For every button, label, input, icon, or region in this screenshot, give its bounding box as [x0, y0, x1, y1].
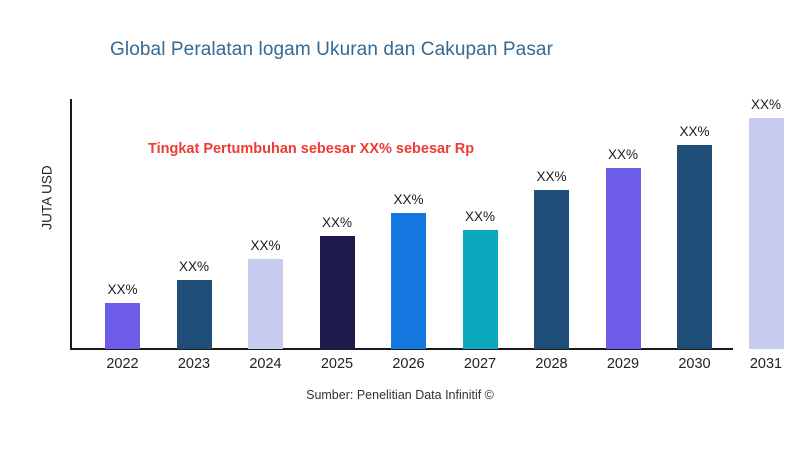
- bar-value-label-2030: XX%: [679, 124, 709, 139]
- bar-group: XX%: [534, 190, 569, 349]
- x-axis-tick-2023: 2023: [164, 356, 224, 372]
- x-axis-tick-2024: 2024: [236, 356, 296, 372]
- x-axis-tick-2031: 2031: [736, 356, 796, 372]
- bar-2030[interactable]: [677, 145, 712, 349]
- bar-value-label-2022: XX%: [107, 282, 137, 297]
- bar-2026[interactable]: [391, 213, 426, 349]
- bar-group: XX%: [606, 168, 641, 349]
- bar-2029[interactable]: [606, 168, 641, 349]
- bar-value-label-2023: XX%: [179, 259, 209, 274]
- x-axis-tick-2028: 2028: [522, 356, 582, 372]
- x-axis-tick-2022: 2022: [93, 356, 153, 372]
- bar-value-label-2027: XX%: [465, 209, 495, 224]
- x-axis-tick-2025: 2025: [307, 356, 367, 372]
- bar-group: XX%: [177, 280, 212, 349]
- bar-group: XX%: [463, 230, 498, 349]
- source-note: Sumber: Penelitian Data Infinitif ©: [0, 388, 800, 402]
- bar-group: XX%: [248, 259, 283, 349]
- bar-2031[interactable]: [749, 118, 784, 349]
- plot-area: XX%2022XX%2023XX%2024XX%2025XX%2026XX%20…: [0, 0, 800, 450]
- x-axis-tick-2026: 2026: [379, 356, 439, 372]
- bar-group: XX%: [391, 213, 426, 349]
- x-axis-tick-2029: 2029: [593, 356, 653, 372]
- x-axis-tick-2027: 2027: [450, 356, 510, 372]
- bar-value-label-2031: XX%: [751, 97, 781, 112]
- bar-2024[interactable]: [248, 259, 283, 349]
- x-axis-tick-2030: 2030: [665, 356, 725, 372]
- bar-group: XX%: [677, 145, 712, 349]
- bar-value-label-2029: XX%: [608, 147, 638, 162]
- bar-value-label-2025: XX%: [322, 215, 352, 230]
- bar-value-label-2024: XX%: [250, 238, 280, 253]
- bar-2025[interactable]: [320, 236, 355, 349]
- bar-group: XX%: [105, 303, 140, 349]
- bar-group: XX%: [749, 118, 784, 349]
- bar-group: XX%: [320, 236, 355, 349]
- bar-value-label-2026: XX%: [393, 192, 423, 207]
- bar-2022[interactable]: [105, 303, 140, 349]
- bar-chart-figure: Global Peralatan logam Ukuran dan Cakupa…: [0, 0, 800, 450]
- bar-value-label-2028: XX%: [536, 169, 566, 184]
- bar-2028[interactable]: [534, 190, 569, 349]
- bar-2027[interactable]: [463, 230, 498, 349]
- bar-2023[interactable]: [177, 280, 212, 349]
